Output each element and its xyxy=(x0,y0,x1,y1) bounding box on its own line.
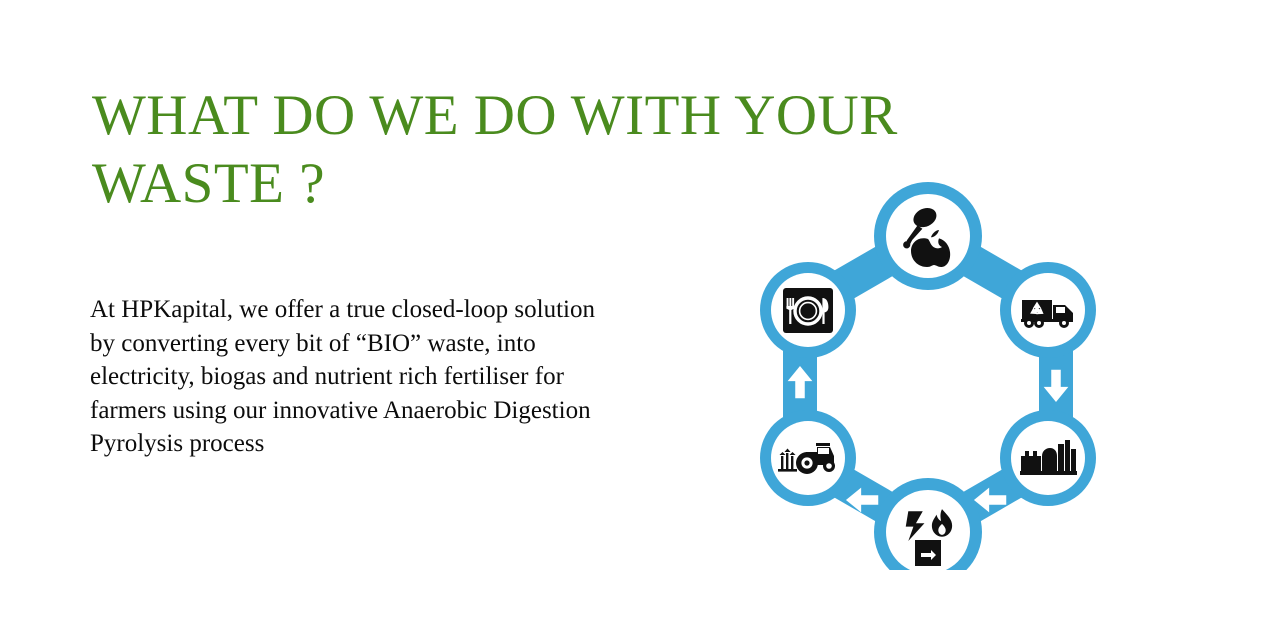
closed-loop-cycle-diagram xyxy=(742,170,1114,570)
cycle-diagram-svg xyxy=(742,170,1114,570)
cycle-node-farming[interactable] xyxy=(760,410,856,506)
slide-canvas: WHAT DO WE DO WITH YOUR WASTE ? At HPKap… xyxy=(0,0,1280,638)
cycle-node-food[interactable] xyxy=(760,262,856,358)
arrow-waste-to-truck xyxy=(974,365,1012,405)
body-paragraph: At HPKapital, we offer a true closed-loo… xyxy=(90,293,620,461)
arrow-food-to-plate xyxy=(846,362,884,402)
cycle-node-food-waste[interactable] xyxy=(874,182,982,290)
cycle-node-collection[interactable] xyxy=(1000,262,1096,358)
cycle-node-processing[interactable] xyxy=(1000,410,1096,506)
plate-meal-icon xyxy=(783,288,833,333)
